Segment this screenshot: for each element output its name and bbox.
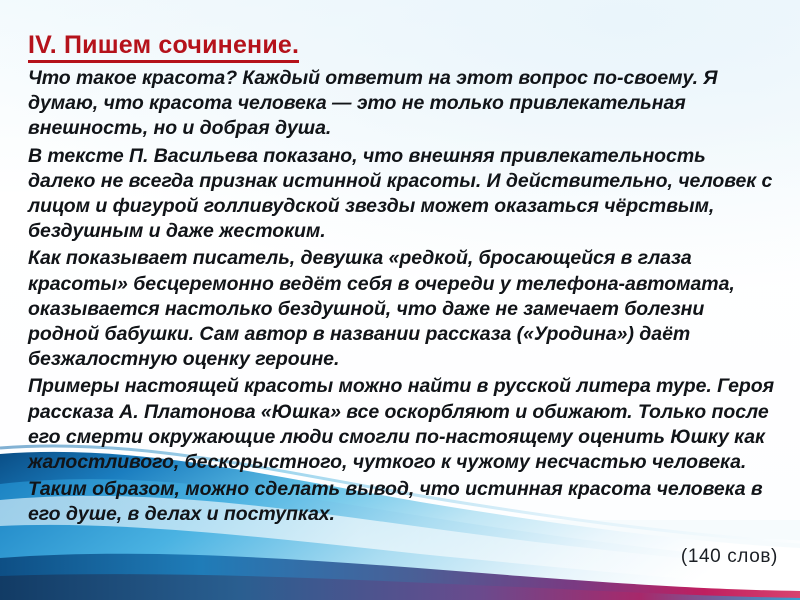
essay-paragraph-2: В тексте П. Васильева показано, что внеш…	[28, 144, 776, 245]
slide-content: IV. Пишем сочинение. Что такое красота? …	[28, 30, 776, 529]
word-count-label: (140 слов)	[681, 546, 778, 568]
essay-paragraph-5: Таким образом, можно сделать вывод, что …	[28, 477, 776, 527]
presentation-slide: IV. Пишем сочинение. Что такое красота? …	[0, 0, 800, 600]
page-title: IV. Пишем сочинение.	[28, 30, 299, 63]
essay-paragraph-4: Примеры настоящей красоты можно найти в …	[28, 374, 776, 475]
essay-paragraph-1: Что такое красота? Каждый ответит на это…	[28, 66, 776, 142]
essay-paragraph-3: Как показывает писатель, девушка «редкой…	[28, 246, 776, 372]
